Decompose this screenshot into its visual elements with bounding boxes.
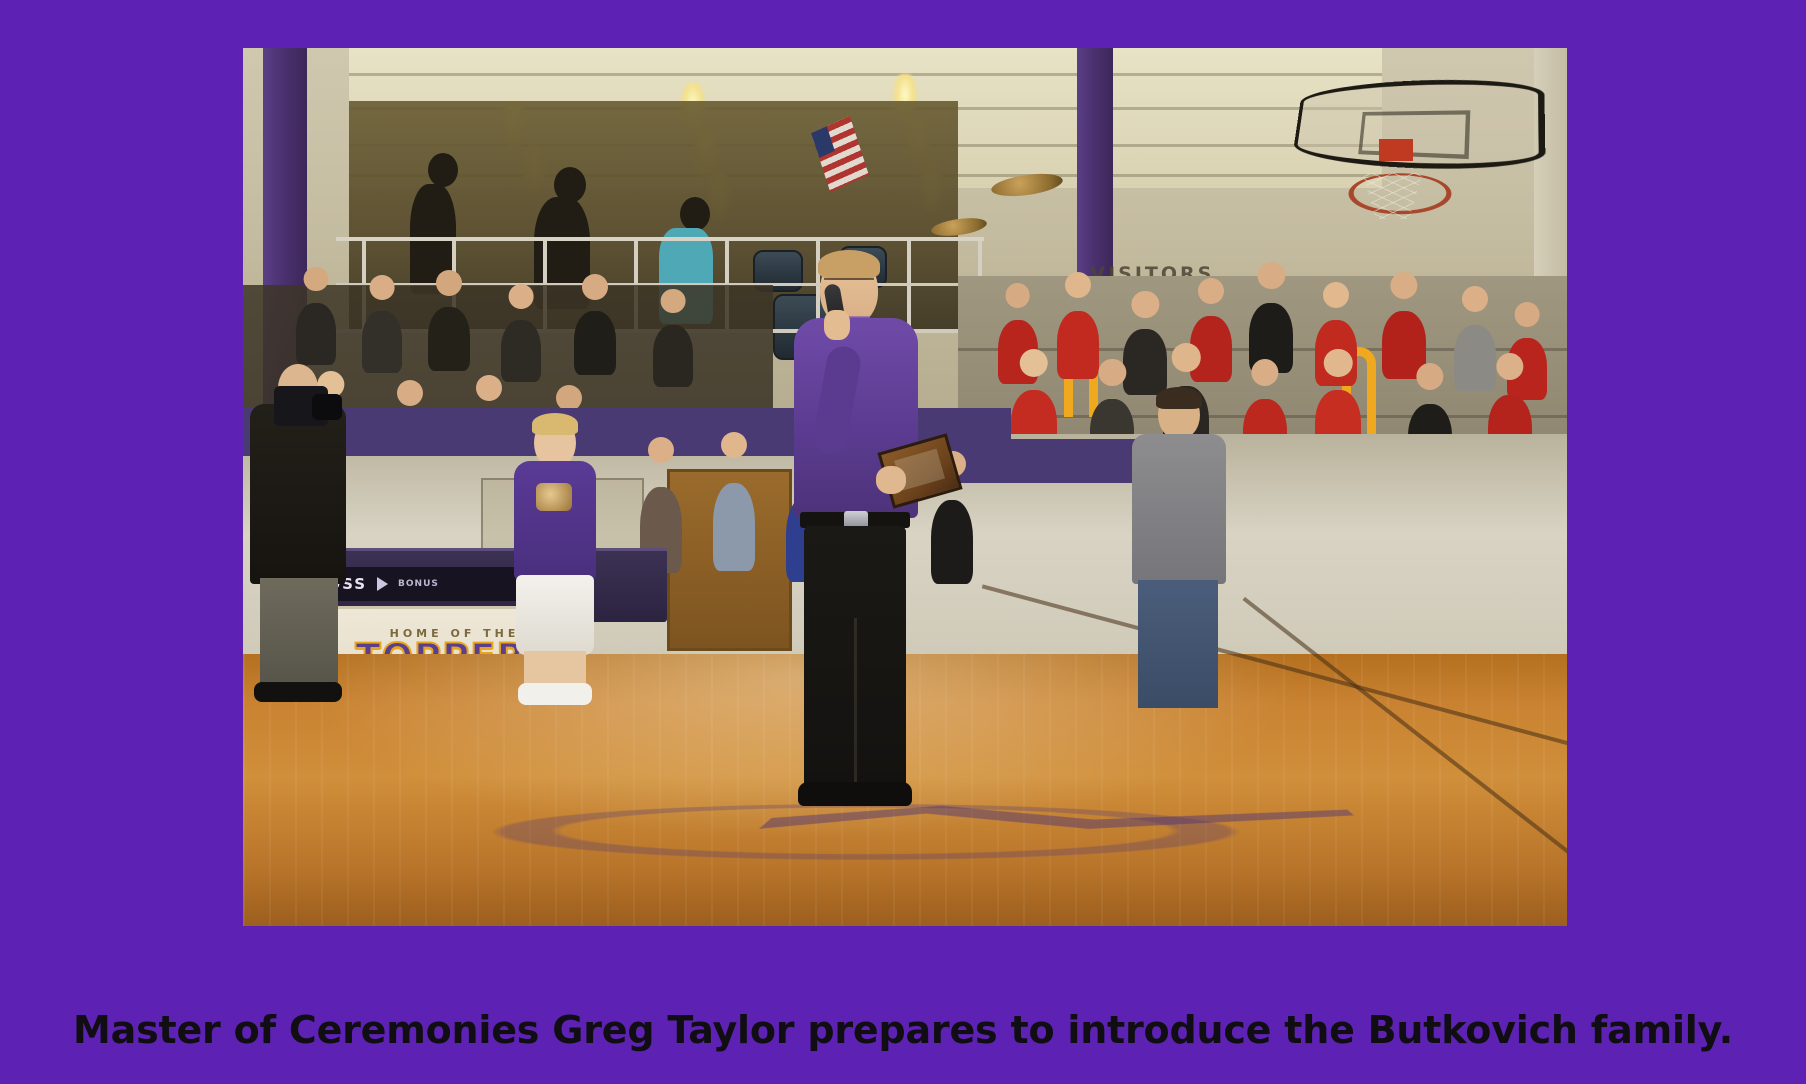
spectator — [428, 307, 470, 371]
player-figure — [514, 417, 596, 707]
backboard — [1291, 73, 1545, 176]
arrow-right-icon — [377, 577, 388, 591]
rim-plate — [1379, 139, 1413, 161]
basketball-hoop — [1271, 61, 1541, 211]
master-of-ceremonies-figure — [792, 254, 920, 814]
slide-canvas: VISITORS — [0, 0, 1806, 1084]
spectator — [1454, 325, 1496, 391]
spectator — [296, 303, 336, 365]
photographer-figure — [250, 364, 346, 704]
spectator — [1057, 311, 1099, 379]
spectator — [574, 311, 616, 375]
bonus-label: BONUS — [398, 579, 439, 589]
spectator — [713, 483, 755, 571]
spectator — [1123, 329, 1167, 395]
photo-gymnasium-ceremony: VISITORS — [243, 48, 1567, 926]
spectator — [653, 325, 693, 387]
camera-lens-icon — [312, 394, 342, 420]
slide-caption: Master of Ceremonies Greg Taylor prepare… — [0, 1008, 1806, 1052]
team-crest-icon — [536, 483, 572, 511]
spectator — [931, 500, 973, 584]
spectator — [362, 311, 402, 373]
band-member-head — [680, 197, 710, 231]
cameraman-figure — [1130, 390, 1226, 720]
spectator — [501, 320, 541, 382]
